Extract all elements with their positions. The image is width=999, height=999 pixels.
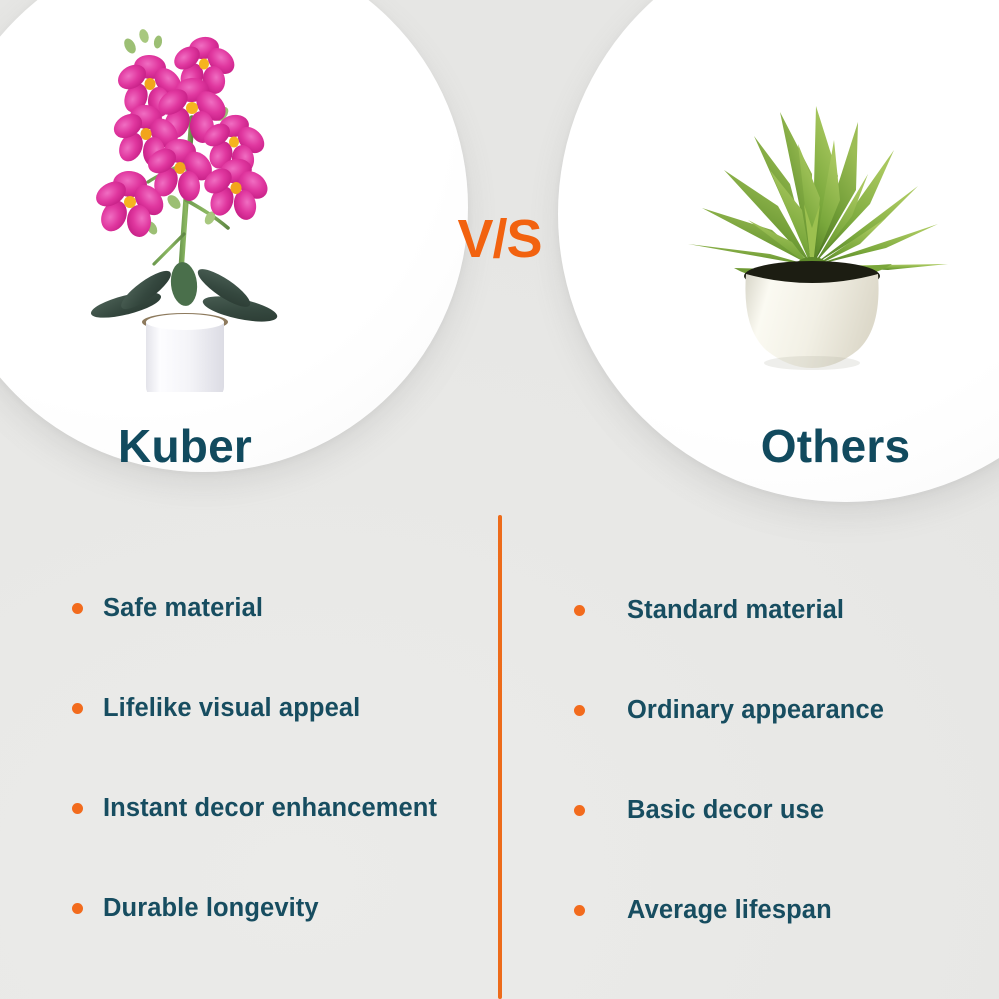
bullet-dot-icon (72, 703, 83, 714)
feature-label: Basic decor use (627, 798, 824, 824)
feature-label: Standard material (627, 598, 844, 624)
list-item: Basic decor use (574, 798, 824, 824)
bullet-dot-icon (574, 605, 585, 616)
orchid-plant-image (88, 22, 298, 392)
feature-label: Ordinary appearance (627, 698, 884, 724)
bullet-dot-icon (574, 905, 585, 916)
right-brand-title: Others (628, 423, 999, 469)
bullet-dot-icon (72, 803, 83, 814)
comparison-infographic: Kuber V/S (0, 0, 999, 999)
feature-comparison-section: Safe material Lifelike visual appeal Ins… (0, 520, 999, 999)
left-brand-title: Kuber (0, 423, 370, 469)
feature-label: Average lifespan (627, 898, 832, 924)
bullet-dot-icon (574, 705, 585, 716)
feature-label: Instant decor enhancement (103, 796, 437, 822)
list-item: Average lifespan (574, 898, 832, 924)
feature-label: Durable longevity (103, 896, 319, 922)
feature-label: Lifelike visual appeal (103, 696, 360, 722)
list-item: Lifelike visual appeal (72, 696, 360, 722)
feature-label: Safe material (103, 596, 263, 622)
list-item: Safe material (72, 596, 263, 622)
versus-badge: V/S (0, 212, 999, 266)
list-item: Ordinary appearance (574, 698, 884, 724)
bullet-dot-icon (574, 805, 585, 816)
bullet-dot-icon (72, 603, 83, 614)
bullet-dot-icon (72, 903, 83, 914)
hero-section: Kuber V/S (0, 0, 999, 520)
list-item: Instant decor enhancement (72, 796, 437, 822)
list-item: Standard material (574, 598, 844, 624)
vertical-divider (498, 515, 502, 999)
list-item: Durable longevity (72, 896, 319, 922)
